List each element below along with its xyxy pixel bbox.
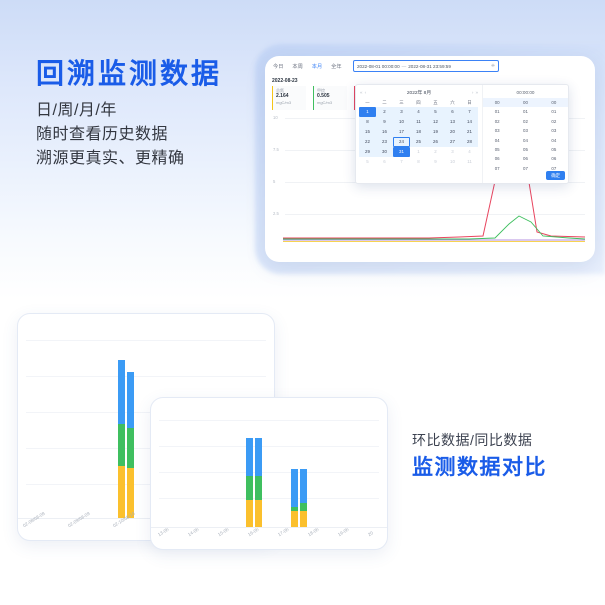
calendar-day-cell[interactable]: 16 <box>376 127 393 137</box>
headline-subline: 溯源更真实、更精确 <box>36 147 286 171</box>
calendar-weekday-row: 一 二 三 四 五 六 日 <box>359 98 479 107</box>
clock-icon[interactable]: ⎈ <box>491 63 495 69</box>
next-year-icon[interactable]: » <box>474 90 479 95</box>
weekday-label: 四 <box>410 98 427 107</box>
time-option[interactable]: 01 <box>483 107 511 116</box>
time-column-second[interactable]: 0001020304050607 <box>540 98 568 173</box>
bar-segment <box>255 438 262 476</box>
time-option[interactable]: 04 <box>540 136 568 145</box>
calendar-day-cell[interactable]: 28 <box>461 137 478 147</box>
weekday-label: 一 <box>359 98 376 107</box>
compare-title: 监测数据对比 <box>412 454 592 482</box>
calendar-day-cell[interactable]: 6 <box>444 107 461 117</box>
bar-stack[interactable] <box>118 360 125 518</box>
time-option[interactable]: 07 <box>511 164 539 173</box>
bar-stack[interactable] <box>300 469 307 527</box>
bar-segment <box>118 424 125 466</box>
calendar-pane: « ‹ 2022年 8月 › » 一 二 三 四 五 六 日 123456789… <box>356 85 483 183</box>
time-option[interactable]: 06 <box>540 154 568 163</box>
bar-segment <box>127 428 134 468</box>
calendar-day-cell[interactable]: 23 <box>376 137 393 147</box>
metric-unit: mgC/m3 <box>317 100 347 105</box>
time-option[interactable]: 00 <box>540 98 568 107</box>
time-option[interactable]: 03 <box>483 126 511 135</box>
bar-segment <box>246 476 253 500</box>
weekday-label: 六 <box>444 98 461 107</box>
headline-block: 回溯监测数据 日/周/月/年 随时查看历史数据 溯源更真实、更精确 <box>36 58 286 171</box>
calendar-day-cell[interactable]: 26 <box>427 137 444 147</box>
time-option[interactable]: 00 <box>511 98 539 107</box>
weekday-label: 五 <box>427 98 444 107</box>
calendar-day-cell[interactable]: 12 <box>427 117 444 127</box>
calendar-day-cell[interactable]: 19 <box>427 127 444 137</box>
time-option[interactable]: 07 <box>483 164 511 173</box>
calendar-day-cell[interactable]: 15 <box>359 127 376 137</box>
calendar-week-row: 1234567 <box>359 107 479 117</box>
bar-segment <box>300 503 307 511</box>
calendar-day-cell[interactable]: 1 <box>410 147 427 157</box>
calendar-day-cell[interactable]: 14 <box>461 117 478 127</box>
calendar-day-cell[interactable]: 20 <box>444 127 461 137</box>
time-option[interactable]: 01 <box>540 107 568 116</box>
calendar-week-row: 15161718192021 <box>359 127 479 137</box>
dashboard-panel: 今日 本周 本月 全年 2022-08-01 00:00:00 — 2022-0… <box>265 56 595 262</box>
time-columns: 0001020304050607 0001020304050607 000102… <box>483 98 568 173</box>
bar-stack[interactable] <box>246 438 253 527</box>
time-column-minute[interactable]: 0001020304050607 <box>511 98 539 173</box>
calendar-day-cell[interactable]: 5 <box>427 107 444 117</box>
bar-segment <box>291 469 298 507</box>
bar-segment <box>291 511 298 527</box>
weekday-label: 二 <box>376 98 393 107</box>
tab-today[interactable]: 今日 <box>273 63 283 70</box>
calendar-day-cell[interactable]: 7 <box>393 157 410 167</box>
calendar-day-cell[interactable]: 27 <box>444 137 461 147</box>
time-picker-header: 00:00:00 <box>483 87 568 98</box>
bar-segment <box>118 360 125 424</box>
calendar-day-cell[interactable]: 8 <box>359 117 376 127</box>
calendar-day-cell[interactable]: 13 <box>444 117 461 127</box>
bar-segment <box>246 500 253 527</box>
calendar-day-cell[interactable]: 29 <box>359 147 376 157</box>
calendar-grid: 1234567891011121314151617181920212223242… <box>359 107 479 167</box>
time-option[interactable]: 01 <box>511 107 539 116</box>
calendar-day-cell[interactable]: 2 <box>376 107 393 117</box>
bar-stack[interactable] <box>255 438 262 527</box>
bar-segment <box>300 469 307 503</box>
calendar-header: « ‹ 2022年 8月 › » <box>359 87 479 98</box>
compare-text-block: 环比数据/同比数据 监测数据对比 <box>412 430 592 482</box>
metric-value: 0.505 <box>317 93 347 100</box>
bar-stack[interactable] <box>291 469 298 527</box>
calendar-day-cell[interactable]: 31 <box>393 147 410 157</box>
comparison-chart-card-right: 13-0h 14-0h 15-0h 16-0h 17-0h 18-0h 19-0… <box>150 397 388 550</box>
metric-card[interactable]: 总氮 2.164 mgC/m3 <box>272 86 306 110</box>
tab-this-month[interactable]: 本月 <box>312 63 322 70</box>
calendar-day-cell[interactable]: 11 <box>461 157 478 167</box>
calendar-day-cell[interactable]: 9 <box>376 117 393 127</box>
time-option[interactable]: 06 <box>511 154 539 163</box>
tab-full-year[interactable]: 全年 <box>331 63 341 70</box>
calendar-week-row: 891011121314 <box>359 117 479 127</box>
bar-segment <box>255 500 262 527</box>
calendar-day-cell[interactable]: 10 <box>444 157 461 167</box>
bar-segment <box>127 372 134 428</box>
time-option[interactable]: 02 <box>483 117 511 126</box>
page-title: 回溯监测数据 <box>36 58 286 90</box>
calendar-day-cell[interactable]: 11 <box>410 117 427 127</box>
calendar-day-cell[interactable]: 17 <box>393 127 410 137</box>
date-picker-popup: « ‹ 2022年 8月 › » 一 二 三 四 五 六 日 123456789… <box>355 84 569 184</box>
confirm-button[interactable]: 确定 <box>546 171 565 180</box>
calendar-day-cell[interactable]: 25 <box>410 137 427 147</box>
right-chart-axis: 13-0h 14-0h 15-0h 16-0h 17-0h 18-0h 19-0… <box>151 527 387 549</box>
tab-this-week[interactable]: 本周 <box>292 63 302 70</box>
x-axis-label: 17-0h <box>277 527 290 537</box>
headline-subline: 日/周/月/年 <box>36 99 286 123</box>
calendar-week-row: 22232425262728 <box>359 137 479 147</box>
calendar-day-cell[interactable]: 18 <box>410 127 427 137</box>
time-picker-pane: 00:00:00 0001020304050607 00010203040506… <box>483 85 568 183</box>
x-axis-label: 16-0h <box>247 527 260 537</box>
metric-card[interactable]: 甲烷 0.505 mgC/m3 <box>313 86 347 110</box>
time-option[interactable]: 05 <box>483 145 511 154</box>
x-axis-label: 15-0h <box>217 527 230 537</box>
calendar-day-cell[interactable]: 9 <box>427 157 444 167</box>
x-axis-label: 20 <box>367 530 374 537</box>
bar-segment <box>118 466 125 518</box>
calendar-week-row: 567891011 <box>359 157 479 167</box>
time-option[interactable]: 05 <box>511 145 539 154</box>
headline-subline: 随时查看历史数据 <box>36 123 286 147</box>
time-option[interactable]: 05 <box>540 145 568 154</box>
time-option[interactable]: 00 <box>483 98 511 107</box>
calendar-day-cell[interactable]: 7 <box>461 107 478 117</box>
bar-segment <box>255 476 262 500</box>
bar-segment <box>246 438 253 476</box>
x-axis-label: 13-0h <box>157 527 170 537</box>
time-option[interactable]: 04 <box>483 136 511 145</box>
time-option[interactable]: 04 <box>511 136 539 145</box>
time-option[interactable]: 02 <box>511 117 539 126</box>
time-option[interactable]: 06 <box>483 154 511 163</box>
calendar-day-cell[interactable]: 3 <box>444 147 461 157</box>
metric-unit: mgC/m3 <box>276 100 306 105</box>
calendar-day-cell[interactable]: 2 <box>427 147 444 157</box>
calendar-day-cell[interactable]: 30 <box>376 147 393 157</box>
calendar-day-cell[interactable]: 8 <box>410 157 427 167</box>
calendar-day-cell[interactable]: 4 <box>461 147 478 157</box>
calendar-title: 2022年 8月 <box>367 89 471 96</box>
date-range-separator: — <box>402 64 407 69</box>
calendar-day-cell[interactable]: 1 <box>359 107 376 117</box>
calendar-day-cell[interactable]: 3 <box>393 107 410 117</box>
x-axis-label: 18-0h <box>307 527 320 537</box>
time-column-hour[interactable]: 0001020304050607 <box>483 98 511 173</box>
calendar-day-cell[interactable]: 22 <box>359 137 376 147</box>
bar-segment <box>300 511 307 527</box>
calendar-day-cell[interactable]: 10 <box>393 117 410 127</box>
time-option[interactable]: 03 <box>540 126 568 135</box>
weekday-label: 日 <box>461 98 478 107</box>
date-range-end: 2022-08-31 23:59:59 <box>408 64 451 69</box>
date-range-start: 2022-08-01 00:00:00 <box>357 64 400 69</box>
calendar-day-cell[interactable]: 4 <box>410 107 427 117</box>
time-option[interactable]: 03 <box>511 126 539 135</box>
panel-current-date: 2022-08-23 <box>272 78 298 84</box>
calendar-day-cell[interactable]: 24 <box>393 137 410 147</box>
metric-value: 2.164 <box>276 93 306 100</box>
date-range-input[interactable]: 2022-08-01 00:00:00 — 2022-08-31 23:59:5… <box>353 60 499 72</box>
calendar-week-row: 2930311234 <box>359 147 479 157</box>
calendar-day-cell[interactable]: 5 <box>359 157 376 167</box>
headline-sublines: 日/周/月/年 随时查看历史数据 溯源更真实、更精确 <box>36 99 286 171</box>
weekday-label: 三 <box>393 98 410 107</box>
time-option[interactable]: 02 <box>540 117 568 126</box>
x-axis-label: 19-0h <box>337 527 350 537</box>
calendar-day-cell[interactable]: 21 <box>461 127 478 137</box>
calendar-day-cell[interactable]: 6 <box>376 157 393 167</box>
compare-subtitle: 环比数据/同比数据 <box>412 430 592 451</box>
x-axis-label: 14-0h <box>187 527 200 537</box>
bar-stack[interactable] <box>127 372 134 518</box>
